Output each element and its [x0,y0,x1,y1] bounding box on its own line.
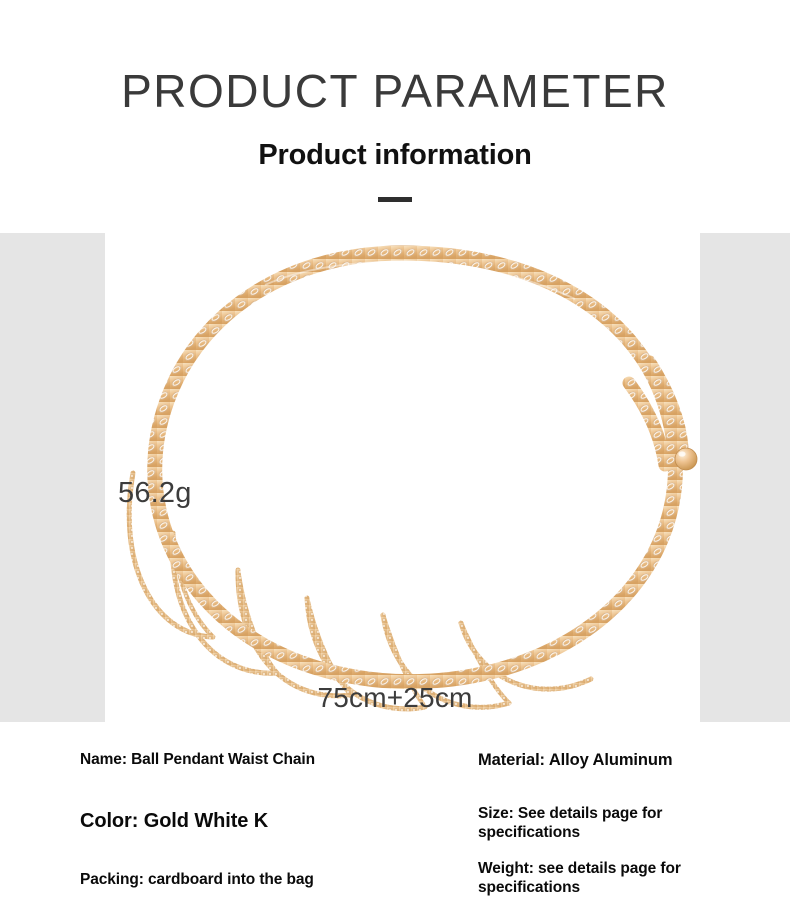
specifications-section: Name: Ball Pendant Waist Chain Color: Go… [0,722,790,924]
product-image-section: 56.2g 75cm+25cm [0,233,790,722]
length-callout: 75cm+25cm [0,684,790,712]
page-subtitle: Product information [0,141,790,170]
product-photo [105,233,700,722]
main-chain-loop [155,253,676,682]
spec-weight: Weight: see details page for specificati… [478,860,758,898]
spec-name: Name: Ball Pendant Waist Chain [80,751,315,770]
spec-packing: Packing: cardboard into the bag [80,871,314,890]
weight-callout: 56.2g [118,479,192,508]
left-gray-band [0,233,105,722]
divider-bar-icon [378,197,412,202]
page-title: PRODUCT PARAMETER [0,68,790,114]
spec-material: Material: Alloy Aluminum [478,750,672,770]
right-gray-band [700,233,790,722]
spec-size: Size: See details page for specification… [478,805,748,843]
spec-color: Color: Gold White K [80,809,268,833]
ball-pendant-highlight [678,451,685,456]
waist-chain-illustration [105,233,700,722]
header-section: PRODUCT PARAMETER Product information [0,0,790,233]
ball-pendant [675,448,697,470]
